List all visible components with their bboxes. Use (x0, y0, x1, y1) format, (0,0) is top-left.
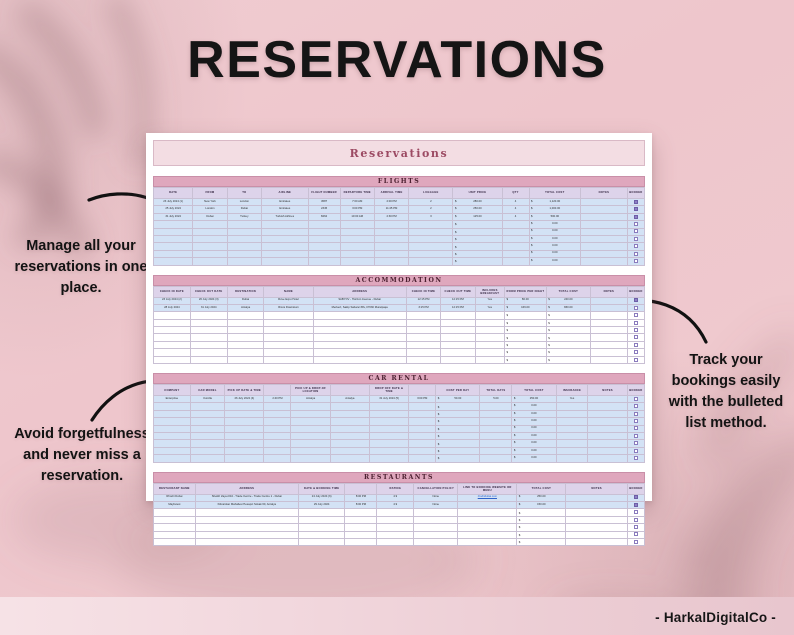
table-cell[interactable] (313, 327, 406, 334)
table-cell[interactable] (195, 538, 298, 545)
table-cell[interactable]: $250.00 (512, 396, 556, 403)
table-row[interactable]: $$0.00 (154, 432, 645, 439)
table-cell[interactable] (475, 327, 504, 334)
table-cell[interactable]: 29 July 2024 (298, 501, 345, 508)
table-cell[interactable] (227, 312, 264, 319)
table-cell[interactable] (556, 403, 588, 410)
table-cell[interactable] (308, 228, 340, 235)
table-cell[interactable] (190, 356, 227, 363)
table-cell[interactable]: $ (436, 455, 480, 462)
table-cell[interactable]: Emirates (261, 206, 308, 213)
table-cell[interactable] (566, 494, 627, 501)
table-cell[interactable] (340, 250, 374, 257)
booked-checkbox-cell[interactable] (627, 425, 644, 432)
table-cell[interactable] (414, 509, 458, 516)
table-cell[interactable] (154, 228, 193, 235)
table-cell[interactable] (190, 410, 224, 417)
table-cell[interactable] (190, 418, 224, 425)
table-cell[interactable]: 4 (502, 199, 529, 206)
table-cell[interactable] (330, 432, 369, 439)
table-cell[interactable]: Corolla (190, 396, 224, 403)
table-cell[interactable] (588, 440, 627, 447)
table-row[interactable]: $$0.00 (154, 221, 645, 228)
table-cell[interactable] (308, 250, 340, 257)
booked-checkbox-cell[interactable] (627, 538, 644, 545)
booked-checkbox-cell[interactable] (627, 410, 644, 417)
table-cell[interactable]: $ (546, 349, 590, 356)
table-cell[interactable] (190, 432, 224, 439)
table-cell[interactable]: 8:00 PM (345, 501, 377, 508)
table-cell[interactable]: $ (436, 432, 480, 439)
table-cell[interactable] (291, 447, 330, 454)
table-cell[interactable]: $50.00 (436, 396, 480, 403)
checkbox-unchecked-icon[interactable] (634, 540, 638, 544)
table-cell[interactable] (441, 312, 475, 319)
table-cell[interactable]: $ (505, 356, 547, 363)
table-cell[interactable] (441, 319, 475, 326)
table-cell[interactable]: 3:15 PM (406, 304, 440, 311)
table-cell[interactable] (264, 356, 313, 363)
checkbox-checked-icon[interactable] (634, 200, 638, 204)
table-cell[interactable] (581, 228, 628, 235)
checkbox-checked-icon[interactable] (634, 298, 638, 302)
table-cell[interactable] (588, 432, 627, 439)
table-cell[interactable] (154, 531, 196, 538)
table-row[interactable]: $$0.00 (154, 425, 645, 432)
table-cell[interactable] (441, 334, 475, 341)
table-cell[interactable] (227, 258, 261, 265)
table-row[interactable]: $$0.00 (154, 447, 645, 454)
table-cell[interactable]: 31 July 2024 (5) (369, 396, 408, 403)
table-row[interactable]: $$0.00 (154, 410, 645, 417)
table-cell[interactable] (369, 418, 408, 425)
table-cell[interactable]: 24 July 2024 (6) (298, 494, 345, 501)
table-cell[interactable] (374, 250, 408, 257)
table-cell[interactable] (154, 334, 191, 341)
table-cell[interactable]: $0.00 (529, 235, 581, 242)
table-cell[interactable] (154, 235, 193, 242)
table-cell[interactable] (227, 250, 261, 257)
table-cell[interactable] (340, 235, 374, 242)
table-cell[interactable]: Kilicarslan Mahallesi Hesapci Sokak 60, … (195, 501, 298, 508)
table-row[interactable]: $ (154, 516, 645, 523)
table-cell[interactable] (556, 418, 588, 425)
booked-checkbox-cell[interactable] (627, 206, 644, 213)
table-cell[interactable] (406, 312, 440, 319)
table-cell[interactable] (377, 531, 414, 538)
booked-checkbox-cell[interactable] (627, 221, 644, 228)
table-cell[interactable] (369, 432, 408, 439)
checkbox-unchecked-icon[interactable] (634, 237, 638, 241)
table-cell[interactable]: Merkezi, Sakip Sabanci Blv, 07030 Muratp… (313, 304, 406, 311)
table-cell[interactable] (190, 312, 227, 319)
table-cell[interactable] (193, 235, 227, 242)
table-cell[interactable]: $125.00 (453, 213, 502, 220)
booked-checkbox-cell[interactable] (627, 235, 644, 242)
table-cell[interactable]: $ (453, 258, 502, 265)
table-cell[interactable]: 28 July 2024 (154, 304, 191, 311)
booked-checkbox-cell[interactable] (627, 250, 644, 257)
table-cell[interactable] (261, 243, 308, 250)
table-cell[interactable]: $ (436, 447, 480, 454)
table-cell[interactable] (502, 250, 529, 257)
table-cell[interactable] (330, 455, 369, 462)
table-cell[interactable]: Yes (556, 396, 588, 403)
table-cell[interactable] (340, 243, 374, 250)
table-cell[interactable] (313, 341, 406, 348)
table-cell[interactable] (566, 538, 627, 545)
table-cell[interactable]: Rove Expo Hotel (264, 297, 313, 304)
table-cell[interactable]: 4.9 (377, 501, 414, 508)
table-cell[interactable] (480, 455, 512, 462)
table-cell[interactable] (264, 312, 313, 319)
table-cell[interactable] (369, 410, 408, 417)
table-cell[interactable] (261, 250, 308, 257)
table-cell[interactable]: Rhodri Dubai (154, 494, 196, 501)
table-cell[interactable]: 5.00 (480, 396, 512, 403)
table-cell[interactable] (475, 349, 504, 356)
table-cell[interactable] (154, 425, 191, 432)
table-cell[interactable] (154, 538, 196, 545)
table-cell[interactable]: $1,120.00 (529, 199, 581, 206)
table-cell[interactable] (588, 455, 627, 462)
table-cell[interactable]: London (227, 199, 261, 206)
table-cell[interactable] (154, 349, 191, 356)
table-cell[interactable]: 26 July 2024 (4) (225, 396, 264, 403)
table-cell[interactable] (154, 455, 191, 462)
table-cell[interactable]: $500.00 (529, 213, 581, 220)
table-cell[interactable] (154, 258, 193, 265)
booked-checkbox-cell[interactable] (627, 524, 644, 531)
table-cell[interactable] (308, 258, 340, 265)
table-cell[interactable]: 9ABYCV - Horizon Avenue - Dubai (313, 297, 406, 304)
table-cell[interactable] (502, 235, 529, 242)
table-cell[interactable]: $ (546, 312, 590, 319)
table-cell[interactable] (190, 334, 227, 341)
table-cell[interactable] (369, 447, 408, 454)
table-cell[interactable] (409, 410, 436, 417)
table-cell[interactable] (264, 334, 313, 341)
table-cell[interactable]: rhodridubai.com (458, 494, 517, 501)
table-row[interactable]: $ (154, 538, 645, 545)
table-cell[interactable]: $1,000.00 (529, 206, 581, 213)
table-cell[interactable] (377, 538, 414, 545)
table-cell[interactable] (475, 334, 504, 341)
table-row[interactable]: $$ (154, 356, 645, 363)
table-cell[interactable]: $ (517, 524, 566, 531)
table-cell[interactable] (377, 509, 414, 516)
table-cell[interactable] (590, 304, 627, 311)
table-cell[interactable] (154, 418, 191, 425)
table-row[interactable]: $$0.00 (154, 243, 645, 250)
table-cell[interactable] (154, 341, 191, 348)
table-cell[interactable]: $240.00 (546, 297, 590, 304)
table-cell[interactable] (566, 509, 627, 516)
table-cell[interactable]: $ (436, 418, 480, 425)
table-cell[interactable] (581, 206, 628, 213)
table-cell[interactable] (588, 425, 627, 432)
table-row[interactable]: $$ (154, 312, 645, 319)
table-cell[interactable] (195, 531, 298, 538)
table-cell[interactable] (566, 524, 627, 531)
table-row[interactable]: MayfarestKilicarslan Mahallesi Hesapci S… (154, 501, 645, 508)
table-cell[interactable]: $ (505, 327, 547, 334)
checkbox-unchecked-icon[interactable] (634, 525, 638, 529)
table-cell[interactable] (409, 455, 436, 462)
booked-checkbox-cell[interactable] (627, 312, 644, 319)
table-cell[interactable] (190, 403, 224, 410)
table-row[interactable]: $$0.00 (154, 258, 645, 265)
table-cell[interactable]: $ (546, 327, 590, 334)
table-cell[interactable] (406, 356, 440, 363)
table-cell[interactable] (313, 312, 406, 319)
table-cell[interactable] (154, 403, 191, 410)
booked-checkbox-cell[interactable] (627, 494, 644, 501)
booked-checkbox-cell[interactable] (627, 258, 644, 265)
table-cell[interactable] (556, 455, 588, 462)
table-cell[interactable] (225, 440, 264, 447)
table-cell[interactable] (590, 349, 627, 356)
checkbox-unchecked-icon[interactable] (634, 335, 638, 339)
table-cell[interactable] (227, 243, 261, 250)
table-cell[interactable] (227, 327, 264, 334)
booked-checkbox-cell[interactable] (627, 297, 644, 304)
table-cell[interactable] (264, 341, 313, 348)
table-row[interactable]: $ (154, 524, 645, 531)
table-cell[interactable] (409, 432, 436, 439)
table-cell[interactable] (330, 403, 369, 410)
table-cell[interactable] (225, 432, 264, 439)
booked-checkbox-cell[interactable] (627, 531, 644, 538)
booked-checkbox-cell[interactable] (627, 432, 644, 439)
table-cell[interactable]: 23 July 2024 (2) (154, 297, 191, 304)
table-row[interactable]: Rhodri DubaiSheikh Zayed Rd - Trade Cent… (154, 494, 645, 501)
table-cell[interactable] (458, 524, 517, 531)
table-cell[interactable] (369, 440, 408, 447)
booked-checkbox-cell[interactable] (627, 327, 644, 334)
checkbox-unchecked-icon[interactable] (634, 426, 638, 430)
table-cell[interactable] (345, 531, 377, 538)
table-cell[interactable] (308, 235, 340, 242)
checkbox-unchecked-icon[interactable] (634, 313, 638, 317)
table-cell[interactable] (340, 221, 374, 228)
booked-checkbox-cell[interactable] (627, 243, 644, 250)
table-cell[interactable]: $ (517, 538, 566, 545)
table-row[interactable]: 25 July 2024LondonDubaiEmirates23453:00 … (154, 206, 645, 213)
table-cell[interactable] (409, 403, 436, 410)
table-cell[interactable] (345, 524, 377, 531)
table-cell[interactable] (190, 447, 224, 454)
table-cell[interactable] (225, 418, 264, 425)
table-cell[interactable] (291, 418, 330, 425)
table-cell[interactable] (225, 410, 264, 417)
table-row[interactable]: $$ (154, 319, 645, 326)
table-cell[interactable] (588, 396, 627, 403)
table-cell[interactable]: $ (505, 319, 547, 326)
booked-checkbox-cell[interactable] (627, 509, 644, 516)
checkbox-checked-icon[interactable] (634, 215, 638, 219)
booked-checkbox-cell[interactable] (627, 516, 644, 523)
table-cell[interactable]: 31 July 2024 (154, 213, 193, 220)
table-row[interactable]: $$ (154, 334, 645, 341)
checkbox-unchecked-icon[interactable] (634, 441, 638, 445)
table-cell[interactable]: 2:00 PM (374, 199, 408, 206)
table-cell[interactable] (227, 334, 264, 341)
table-cell[interactable]: $ (436, 410, 480, 417)
table-cell[interactable] (227, 319, 264, 326)
table-cell[interactable] (475, 341, 504, 348)
table-cell[interactable]: 2 (409, 206, 453, 213)
table-cell[interactable] (225, 447, 264, 454)
table-cell[interactable] (377, 516, 414, 523)
table-cell[interactable] (261, 228, 308, 235)
table-cell[interactable] (154, 243, 193, 250)
table-cell[interactable] (154, 410, 191, 417)
checkbox-unchecked-icon[interactable] (634, 252, 638, 256)
table-cell[interactable] (227, 349, 264, 356)
table-cell[interactable] (581, 213, 628, 220)
table-cell[interactable] (441, 356, 475, 363)
table-cell[interactable] (330, 425, 369, 432)
table-cell[interactable] (195, 516, 298, 523)
table-row[interactable]: $ (154, 531, 645, 538)
table-cell[interactable] (193, 243, 227, 250)
table-cell[interactable] (406, 327, 440, 334)
checkbox-checked-icon[interactable] (634, 503, 638, 507)
table-cell[interactable] (566, 531, 627, 538)
table-row[interactable]: $$0.00 (154, 250, 645, 257)
table-cell[interactable]: None (414, 501, 458, 508)
table-cell[interactable]: 4587 (308, 199, 340, 206)
table-cell[interactable] (264, 410, 291, 417)
table-cell[interactable] (458, 531, 517, 538)
table-cell[interactable] (264, 447, 291, 454)
table-cell[interactable]: $0.00 (529, 258, 581, 265)
table-cell[interactable]: $ (436, 425, 480, 432)
table-cell[interactable]: $ (517, 531, 566, 538)
table-cell[interactable] (193, 228, 227, 235)
table-cell[interactable] (480, 432, 512, 439)
table-cell[interactable]: $ (453, 228, 502, 235)
table-cell[interactable]: $0.00 (512, 425, 556, 432)
table-row[interactable]: $$0.00 (154, 440, 645, 447)
table-cell[interactable] (458, 538, 517, 545)
table-cell[interactable] (480, 425, 512, 432)
table-cell[interactable]: $0.00 (529, 228, 581, 235)
table-cell[interactable] (291, 403, 330, 410)
table-row[interactable]: 23 July 2024 (1)New YorkLondonEmirates45… (154, 199, 645, 206)
checkbox-unchecked-icon[interactable] (634, 434, 638, 438)
table-cell[interactable] (261, 221, 308, 228)
table-cell[interactable]: 4 (502, 206, 529, 213)
table-cell[interactable] (590, 327, 627, 334)
table-cell[interactable] (264, 425, 291, 432)
table-cell[interactable] (340, 228, 374, 235)
checkbox-unchecked-icon[interactable] (634, 328, 638, 332)
table-cell[interactable]: Enterprise (154, 396, 191, 403)
table-cell[interactable] (441, 341, 475, 348)
table-cell[interactable] (414, 531, 458, 538)
table-cell[interactable]: $0.00 (512, 455, 556, 462)
booked-checkbox-cell[interactable] (627, 455, 644, 462)
table-cell[interactable] (154, 440, 191, 447)
table-cell[interactable] (590, 312, 627, 319)
booked-checkbox-cell[interactable] (627, 447, 644, 454)
table-cell[interactable] (345, 538, 377, 545)
table-row[interactable]: $$0.00 (154, 228, 645, 235)
table-cell[interactable] (330, 440, 369, 447)
table-cell[interactable] (556, 410, 588, 417)
table-cell[interactable] (298, 531, 345, 538)
table-cell[interactable]: $ (453, 235, 502, 242)
table-cell[interactable] (264, 455, 291, 462)
table-cell[interactable]: $0.00 (529, 243, 581, 250)
checkbox-unchecked-icon[interactable] (634, 412, 638, 416)
table-cell[interactable] (566, 516, 627, 523)
table-row[interactable]: $$0.00 (154, 403, 645, 410)
table-cell[interactable]: 2:30 PM (374, 213, 408, 220)
booked-checkbox-cell[interactable] (627, 199, 644, 206)
table-cell[interactable] (154, 319, 191, 326)
table-cell[interactable]: Mayfarest (154, 501, 196, 508)
table-cell[interactable] (264, 403, 291, 410)
table-cell[interactable]: 26 July 2024 (3) (190, 297, 227, 304)
checkbox-unchecked-icon[interactable] (634, 306, 638, 310)
checkbox-unchecked-icon[interactable] (634, 419, 638, 423)
table-cell[interactable] (566, 501, 627, 508)
table-cell[interactable]: $0.00 (512, 418, 556, 425)
table-cell[interactable] (308, 221, 340, 228)
table-cell[interactable] (154, 312, 191, 319)
table-cell[interactable] (195, 509, 298, 516)
table-cell[interactable]: $ (436, 440, 480, 447)
table-cell[interactable] (480, 418, 512, 425)
table-cell[interactable] (190, 327, 227, 334)
table-cell[interactable] (502, 228, 529, 235)
table-cell[interactable]: $150.00 (517, 501, 566, 508)
table-cell[interactable] (291, 440, 330, 447)
table-cell[interactable] (406, 334, 440, 341)
table-cell[interactable] (588, 403, 627, 410)
table-cell[interactable] (190, 319, 227, 326)
table-cell[interactable] (154, 432, 191, 439)
table-cell[interactable] (409, 235, 453, 242)
table-cell[interactable] (298, 509, 345, 516)
table-cell[interactable]: 4.9 (377, 494, 414, 501)
table-cell[interactable]: $0.00 (512, 410, 556, 417)
table-cell[interactable] (374, 221, 408, 228)
table-cell[interactable] (190, 425, 224, 432)
booked-checkbox-cell[interactable] (627, 341, 644, 348)
table-cell[interactable] (291, 455, 330, 462)
table-cell[interactable]: Antalya (291, 396, 330, 403)
table-cell[interactable]: 25 July 2024 (154, 206, 193, 213)
table-cell[interactable]: $ (453, 221, 502, 228)
table-cell[interactable] (313, 319, 406, 326)
table-cell[interactable]: $ (505, 341, 547, 348)
table-cell[interactable]: 3:00 PM (340, 206, 374, 213)
table-cell[interactable] (590, 319, 627, 326)
table-cell[interactable] (369, 425, 408, 432)
checkbox-unchecked-icon[interactable] (634, 456, 638, 460)
table-cell[interactable] (480, 410, 512, 417)
table-cell[interactable] (556, 432, 588, 439)
table-cell[interactable] (414, 538, 458, 545)
table-row[interactable]: $$0.00 (154, 418, 645, 425)
table-row[interactable]: $$ (154, 349, 645, 356)
checkbox-checked-icon[interactable] (634, 495, 638, 499)
checkbox-unchecked-icon[interactable] (634, 222, 638, 226)
